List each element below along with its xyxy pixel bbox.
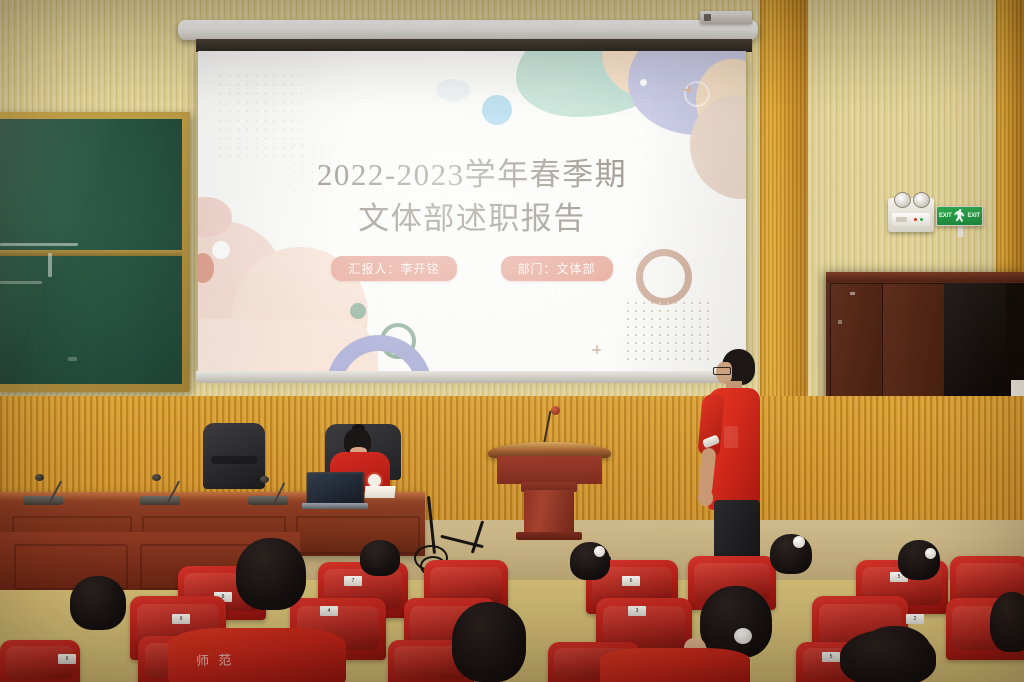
seat-number-plate: 3 (628, 606, 646, 616)
running-person-icon (953, 209, 966, 224)
laptop-screen (307, 472, 365, 506)
wood-pilaster-center (760, 0, 808, 400)
table-mic-base-3 (248, 496, 288, 505)
table-mic-base-1 (23, 496, 63, 505)
screen-bottom-bar (196, 371, 750, 383)
slide-dotgrid-bottomright (624, 299, 710, 361)
glasses-icon (713, 367, 731, 375)
slide-badge-row: 汇报人：李开铭 部门：文体部 (198, 256, 746, 281)
presenter-hand (698, 490, 713, 506)
seat-number-plate: 6 (622, 576, 640, 586)
chalkboard-surface (0, 119, 182, 384)
table-mic-base-2 (140, 496, 180, 505)
emergency-light (888, 198, 934, 232)
hair-scrunchie (925, 548, 936, 559)
seat-number-plate: 4 (320, 606, 338, 616)
podium-body (497, 456, 602, 484)
exit-label-right: EXIT (967, 213, 980, 219)
laptop-base (302, 503, 368, 509)
exit-sign: EXIT EXIT (936, 206, 983, 226)
chalkboard-sheen (0, 119, 182, 384)
hair-scrunchie (734, 628, 752, 644)
table-mic-head-3 (260, 476, 269, 483)
cabinet-top-moulding (826, 272, 1024, 282)
table-front-panel-3 (296, 516, 420, 554)
audience-head (452, 602, 526, 682)
audience-head (990, 592, 1024, 652)
executive-chair-left (203, 423, 265, 489)
seat-number-plate: 2 (906, 614, 924, 624)
audience-head (236, 538, 306, 610)
hair-scrunchie (594, 546, 605, 557)
table-mic-head-2 (152, 474, 161, 481)
name-card (365, 486, 396, 498)
audience-head (770, 534, 812, 574)
hair-scrunchie (793, 536, 805, 548)
slide-badge-department: 部门：文体部 (501, 256, 613, 281)
shirt-print-text: 师 范 (196, 649, 235, 669)
audience-head (360, 540, 400, 576)
emergency-lamp-left (894, 192, 911, 208)
slide-plus-lower (592, 345, 601, 354)
projector-screen-housing (178, 20, 758, 40)
projection-screen: 2022-2023学年春季期 文体部述职报告 汇报人：李开铭 部门：文体部 (198, 51, 746, 373)
emergency-led-red (914, 218, 917, 221)
table-mic-head-1 (35, 474, 44, 481)
wood-pilaster-right (996, 0, 1024, 300)
slide-title: 2022-2023学年春季期 文体部述职报告 (198, 153, 746, 241)
emergency-led-green (920, 218, 923, 221)
exit-label-left: EXIT (939, 213, 952, 219)
seat-number-plate: 6 (58, 654, 76, 664)
audience-head (898, 540, 940, 580)
chalkboard (0, 112, 190, 392)
emergency-panel (892, 213, 930, 226)
slide-plus-upper (684, 85, 693, 94)
auditorium-photo: 2022-2023学年春季期 文体部述职报告 汇报人：李开铭 部门：文体部 EX… (0, 0, 1024, 682)
audience-head (70, 576, 126, 630)
student-red-shirt-2 (600, 648, 750, 682)
slide-badge-presenter: 汇报人：李开铭 (331, 256, 456, 281)
slide-dot-green (350, 303, 366, 319)
slide-dot-blue (482, 95, 512, 125)
slide-dot-white (640, 79, 647, 86)
screen-mount-bracket (700, 11, 752, 24)
exit-sign-stem (958, 226, 963, 237)
student-red-shirt (168, 628, 346, 682)
seat-number-plate: 7 (344, 576, 362, 586)
slide-blob-faint (436, 79, 470, 101)
audience-head (840, 630, 936, 682)
podium-column (524, 490, 574, 536)
podium-mic-head (551, 406, 560, 415)
emergency-lamp-right (913, 192, 930, 208)
seat-number-plate: 9 (172, 614, 190, 624)
podium-foot (516, 532, 582, 540)
seat-number-plate: 5 (822, 652, 840, 662)
presenter-shirt-print (724, 426, 738, 448)
